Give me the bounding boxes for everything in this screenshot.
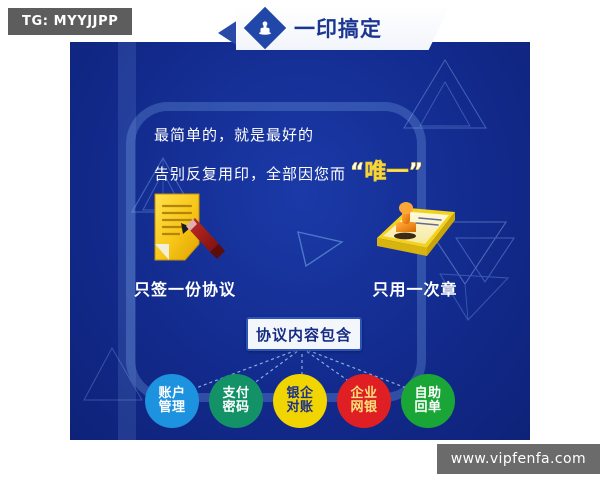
feature-item-agreement: 只签一份协议 [70, 190, 300, 300]
headline-block: 最简单的，就是最好的 告别反复用印，全部因您而 “唯一” [154, 124, 423, 186]
bubble-line-2: 密码 [222, 401, 249, 415]
ribbon-tail [218, 20, 238, 46]
headline-line-1: 最简单的，就是最好的 [154, 124, 423, 145]
ribbon-title: 一印搞定 [294, 13, 382, 43]
feature-caption-agreement: 只签一份协议 [134, 276, 236, 300]
document-pen-icon [141, 190, 229, 266]
bubble-row: 账户 管理 支付 密码 银企 对账 企业 网银 自助 回单 [70, 374, 530, 428]
bubble-line-2: 对账 [286, 401, 313, 415]
stamp-pad-icon [369, 190, 461, 266]
bubble-line-1: 企业 [350, 387, 377, 401]
bubble-bank-reconciliation[interactable]: 银企 对账 [273, 374, 327, 428]
feature-caption-stamp: 只用一次章 [372, 276, 457, 300]
headline-line-2-prefix: 告别反复用印，全部因您而 [154, 163, 346, 184]
center-label-text: 协议内容包含 [256, 324, 352, 345]
bubble-line-1: 银企 [286, 387, 313, 401]
bubble-account-management[interactable]: 账户 管理 [145, 374, 199, 428]
bubble-line-2: 回单 [414, 401, 441, 415]
bubble-line-1: 支付 [222, 387, 249, 401]
bubble-line-1: 账户 [158, 387, 185, 401]
site-watermark-badge: www.vipfenfa.com [437, 444, 600, 474]
bubble-line-2: 管理 [158, 401, 185, 415]
center-label-box: 协议内容包含 [246, 317, 362, 351]
poster-panel: 最简单的，就是最好的 告别反复用印，全部因您而 “唯一” [70, 42, 530, 440]
ribbon-banner: 一印搞定 [236, 6, 450, 50]
feature-row: 只签一份协议 [70, 190, 530, 300]
headline-line-2: 告别反复用印，全部因您而 “唯一” [154, 154, 423, 186]
headline-highlight: “唯一” [350, 154, 423, 186]
bubble-self-service-receipt[interactable]: 自助 回单 [401, 374, 455, 428]
bubble-payment-password[interactable]: 支付 密码 [209, 374, 263, 428]
bubble-corporate-ebank[interactable]: 企业 网银 [337, 374, 391, 428]
tg-watermark-badge: TG: MYYJJPP [8, 8, 132, 35]
stamp-diamond-icon [244, 7, 286, 49]
bubble-line-2: 网银 [350, 401, 377, 415]
screenshot-canvas: 最简单的，就是最好的 告别反复用印，全部因您而 “唯一” [0, 0, 600, 480]
bubble-line-1: 自助 [414, 387, 441, 401]
ribbon-body: 一印搞定 [236, 6, 450, 50]
feature-item-stamp: 只用一次章 [300, 190, 530, 300]
